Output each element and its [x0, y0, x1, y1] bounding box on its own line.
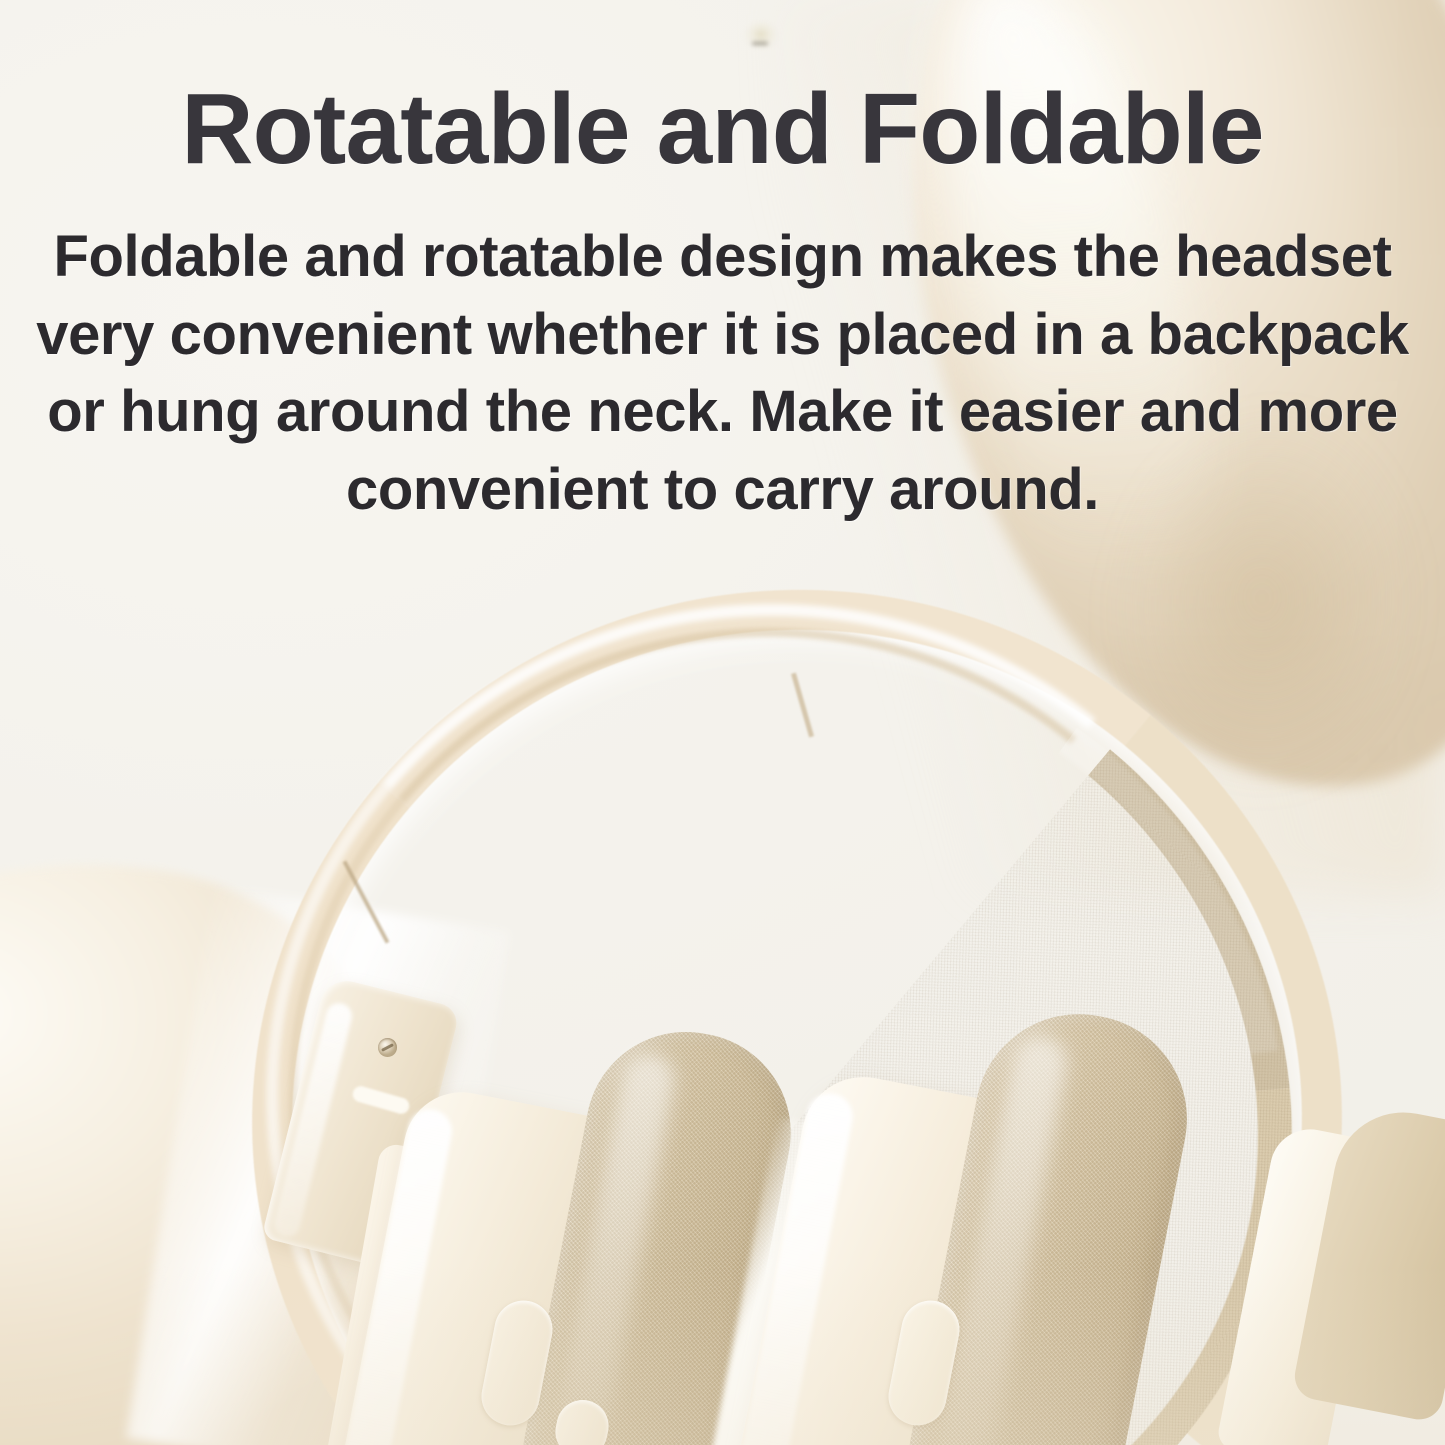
product-feature-banner: Rotatable and Foldable Foldable and rota…: [0, 0, 1445, 1445]
copy-block: Rotatable and Foldable Foldable and rota…: [0, 0, 1445, 529]
page-title: Rotatable and Foldable: [0, 0, 1445, 180]
hinge-screw: [378, 1038, 397, 1057]
feature-description: Foldable and rotatable design makes the …: [0, 180, 1445, 529]
